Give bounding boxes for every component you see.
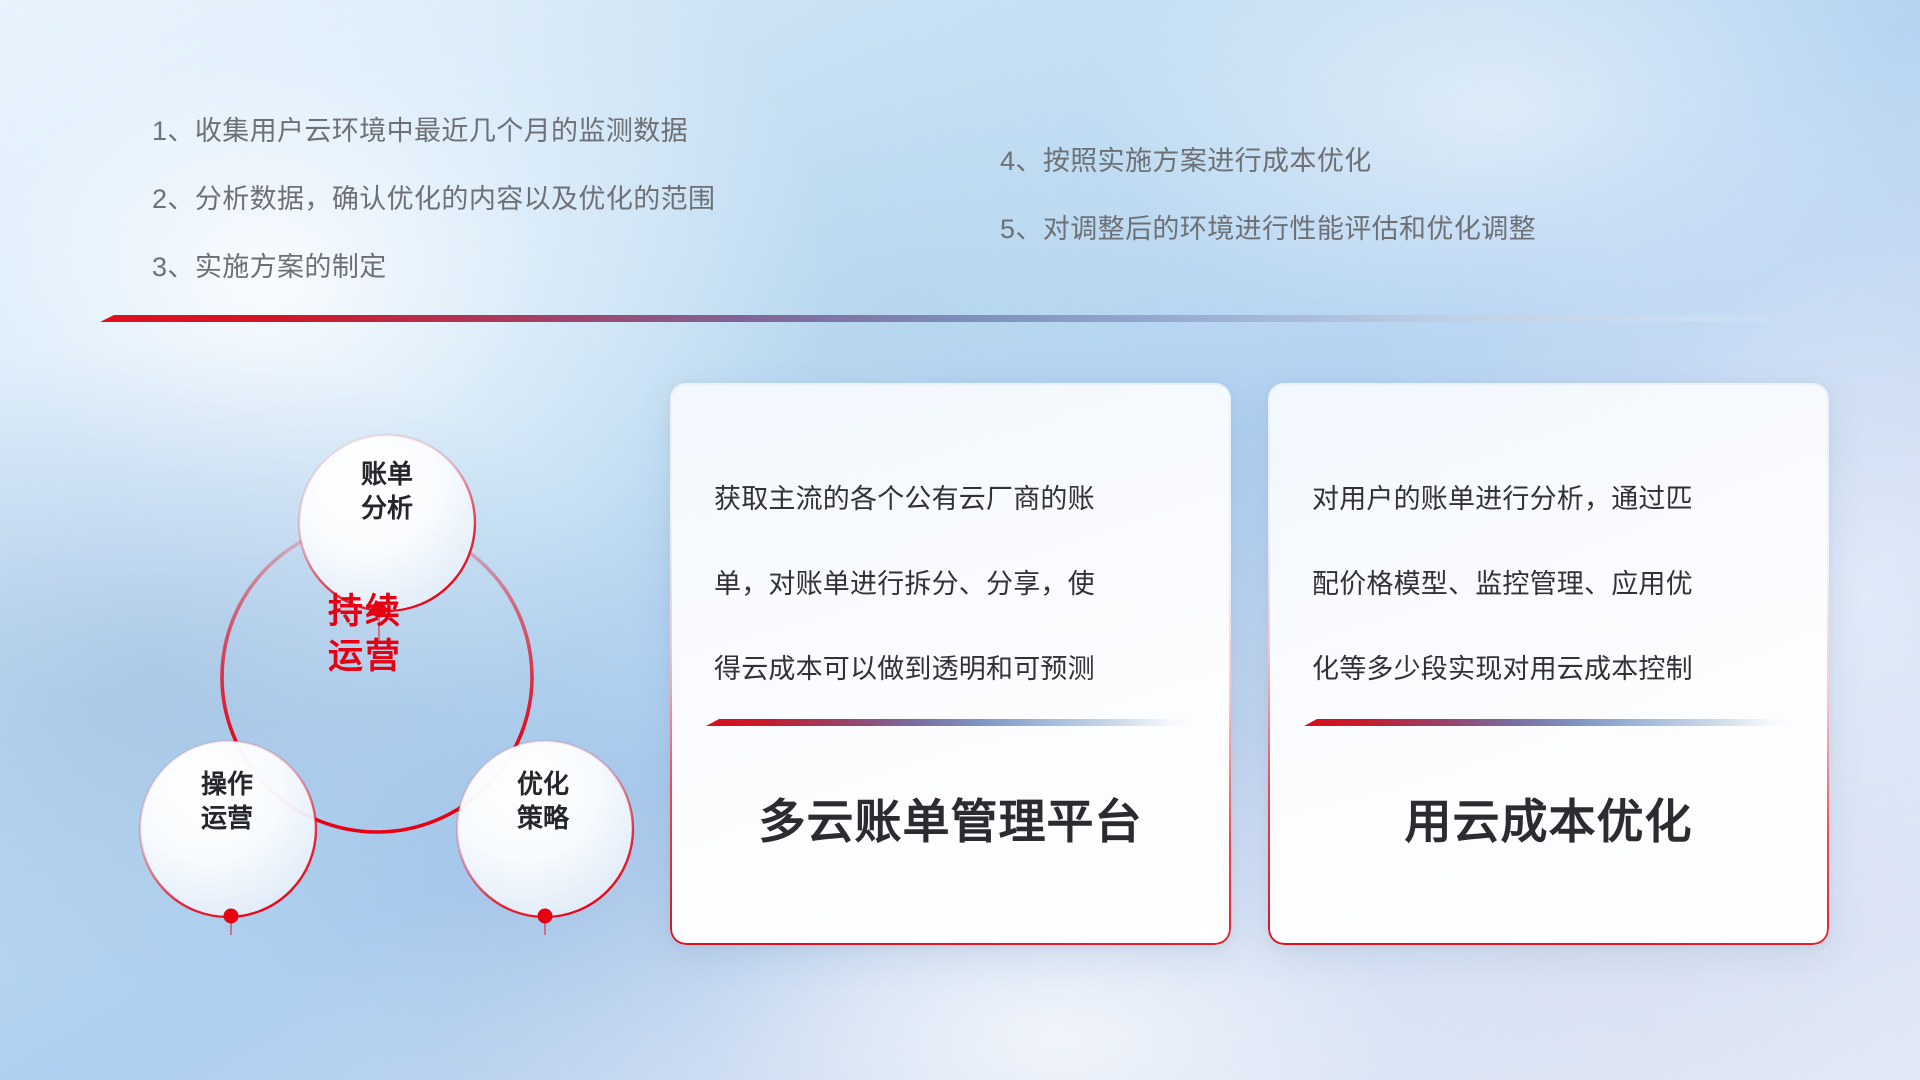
- card-title: 多云账单管理平台: [670, 783, 1231, 852]
- card-body-text: 对用户的账单进行分析，通过匹 配价格模型、监控管理、应用优 化等多少段实现对用云…: [1312, 457, 1801, 712]
- card-body-text: 获取主流的各个公有云厂商的账 单，对账单进行拆分、分享，使 得云成本可以做到透明…: [714, 457, 1203, 712]
- slide-canvas: 1、收集用户云环境中最近几个月的监测数据 2、分析数据，确认优化的内容以及优化的…: [0, 0, 1920, 1080]
- bullet-label: 实施方案的制定: [195, 252, 387, 282]
- bullet-list-left: 1、收集用户云环境中最近几个月的监测数据 2、分析数据，确认优化的内容以及优化的…: [152, 118, 715, 281]
- card-title: 用云成本优化: [1268, 783, 1829, 852]
- card-body-line-2: 单，对账单进行拆分、分享，使: [714, 542, 1203, 627]
- bullet-item-4: 4、按照实施方案进行成本优化: [1000, 148, 1536, 175]
- diagram-svg: [85, 345, 645, 935]
- card-body-line-2: 配价格模型、监控管理、应用优: [1312, 542, 1801, 627]
- bullet-item-3: 3、实施方案的制定: [152, 254, 715, 281]
- bullet-number: 3、: [152, 252, 195, 282]
- continuous-operations-diagram: 账单 分析 操作 运营 优化 策略 持续 运营: [85, 345, 645, 935]
- bullet-number: 2、: [152, 184, 195, 214]
- bullet-label: 分析数据，确认优化的内容以及优化的范围: [195, 184, 716, 214]
- card-divider-rule: [1304, 719, 1792, 726]
- section-divider-rule: [100, 315, 1820, 322]
- card-multi-cloud-billing-platform[interactable]: 获取主流的各个公有云厂商的账 单，对账单进行拆分、分享，使 得云成本可以做到透明…: [670, 383, 1231, 945]
- connector-dot-bill: [372, 603, 387, 618]
- card-divider-rule: [706, 719, 1194, 726]
- card-cloud-cost-optimization[interactable]: 对用户的账单进行分析，通过匹 配价格模型、监控管理、应用优 化等多少段实现对用云…: [1268, 383, 1829, 945]
- connector-dot-operations: [224, 909, 239, 924]
- bubble-bill-analysis[interactable]: [299, 435, 475, 611]
- bullet-label: 对调整后的环境进行性能评估和优化调整: [1043, 214, 1536, 244]
- bullet-item-2: 2、分析数据，确认优化的内容以及优化的范围: [152, 186, 715, 213]
- bullet-label: 按照实施方案进行成本优化: [1043, 146, 1372, 176]
- bullet-label: 收集用户云环境中最近几个月的监测数据: [195, 116, 688, 146]
- card-body-line-1: 对用户的账单进行分析，通过匹: [1312, 457, 1801, 542]
- bullet-number: 4、: [1000, 146, 1043, 176]
- bullet-item-5: 5、对调整后的环境进行性能评估和优化调整: [1000, 216, 1536, 243]
- bullet-number: 1、: [152, 116, 195, 146]
- card-body-line-3: 得云成本可以做到透明和可预测: [714, 627, 1203, 712]
- bullet-list-right: 4、按照实施方案进行成本优化 5、对调整后的环境进行性能评估和优化调整: [1000, 148, 1536, 243]
- bubble-strategy[interactable]: [457, 741, 633, 917]
- connector-dot-strategy: [538, 909, 553, 924]
- card-body-line-1: 获取主流的各个公有云厂商的账: [714, 457, 1203, 542]
- bullet-item-1: 1、收集用户云环境中最近几个月的监测数据: [152, 118, 715, 145]
- card-body-line-3: 化等多少段实现对用云成本控制: [1312, 627, 1801, 712]
- bullet-number: 5、: [1000, 214, 1043, 244]
- bubble-operations[interactable]: [140, 741, 316, 917]
